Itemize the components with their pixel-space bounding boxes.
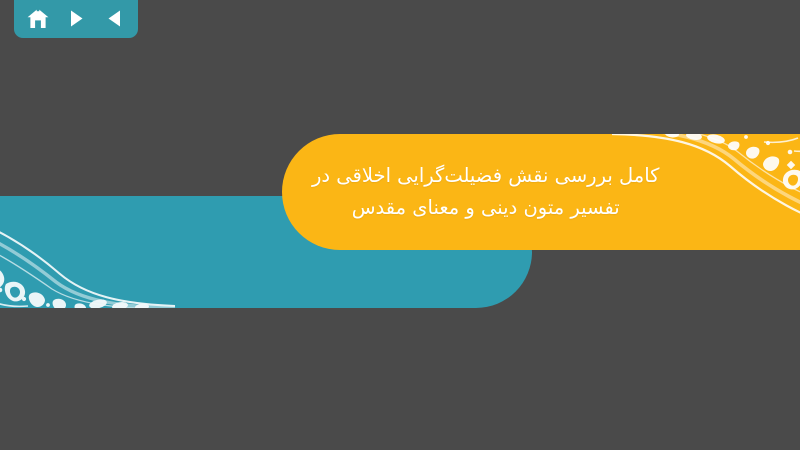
orange-title-band: کامل بررسی نقش فضیلت‌گرایی اخلاقی در تفس… [282, 134, 800, 250]
presentation-slide: کامل بررسی نقش فضیلت‌گرایی اخلاقی در تفس… [0, 0, 800, 450]
arabesque-ornament-icon [0, 196, 180, 308]
home-icon [27, 8, 49, 29]
next-button[interactable] [61, 5, 91, 31]
page-title: کامل بررسی نقش فضیلت‌گرایی اخلاقی در تفس… [282, 160, 727, 223]
triangle-left-icon [106, 9, 123, 28]
triangle-right-icon [68, 9, 85, 28]
home-button[interactable] [23, 5, 53, 31]
navigation-toolbar [14, 0, 138, 38]
previous-button[interactable] [99, 5, 129, 31]
